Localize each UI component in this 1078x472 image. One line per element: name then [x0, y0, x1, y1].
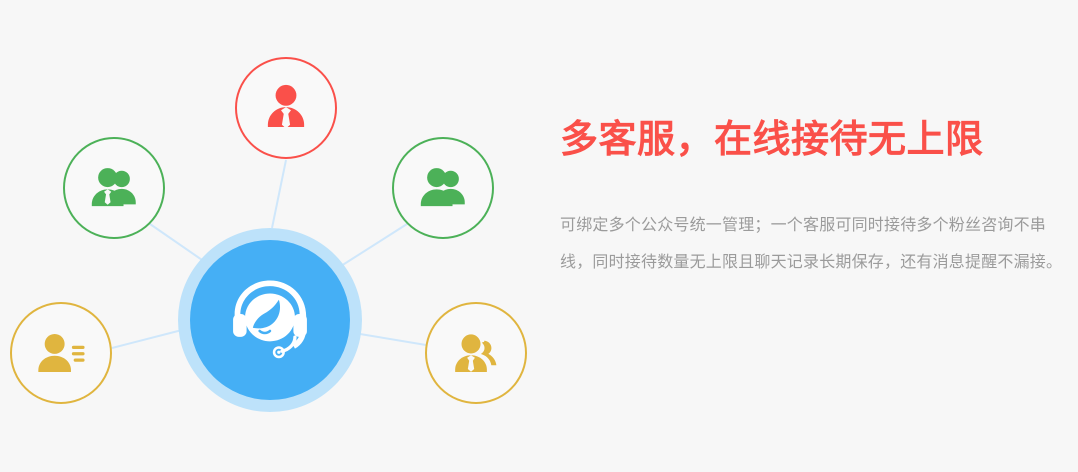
person-tie-group-icon	[447, 324, 505, 382]
node-right-lower-person-tie-group[interactable]	[425, 302, 527, 404]
feature-banner: 多客服，在线接待无上限 可绑定多个公众号统一管理；一个客服可同时接待多个粉丝咨询…	[0, 0, 1078, 472]
node-left-upper-two-people[interactable]	[63, 137, 165, 239]
node-left-lower-person-message[interactable]	[10, 302, 112, 404]
connector-left-upper	[150, 224, 205, 262]
two-people-icon	[414, 159, 472, 217]
two-people-icon	[85, 159, 143, 217]
copy-block: 多客服，在线接待无上限 可绑定多个公众号统一管理；一个客服可同时接待多个粉丝咨询…	[560, 0, 1078, 472]
person-tie-icon	[257, 79, 315, 137]
connector-left-lower	[112, 330, 182, 348]
connector-right-upper	[341, 224, 407, 266]
hub-node-customer-service[interactable]	[190, 240, 350, 400]
customer-service-node-diagram	[0, 0, 550, 472]
headline: 多客服，在线接待无上限	[560, 116, 984, 164]
node-right-upper-two-people[interactable]	[392, 137, 494, 239]
connector-right-lower	[360, 334, 426, 345]
body-copy: 可绑定多个公众号统一管理；一个客服可同时接待多个粉丝咨询不串线，同时接待数量无上…	[560, 207, 1076, 281]
connector-top	[272, 160, 286, 228]
node-top-person-tie[interactable]	[235, 57, 337, 159]
person-message-icon	[32, 324, 90, 382]
headset-agent-icon	[218, 268, 322, 372]
